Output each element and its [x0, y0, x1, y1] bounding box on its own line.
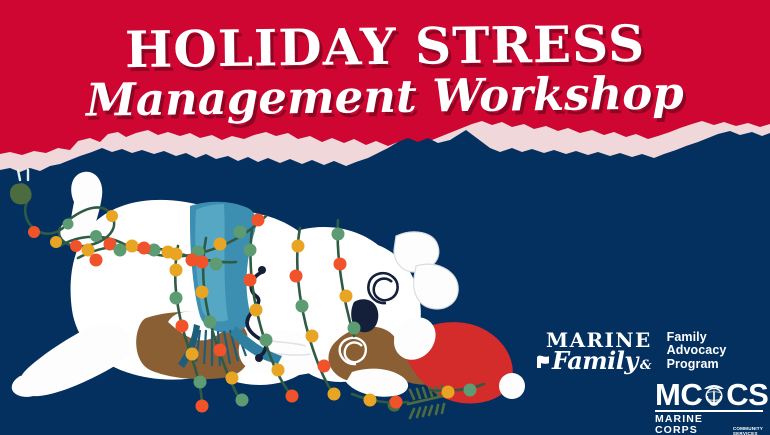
mccs-subtitle: MARINE CORPS COMMUNITY SERVICES — [655, 414, 763, 435]
title-block: HOLIDAY STRESS Management Workshop — [0, 0, 770, 140]
program-name: Family Advocacy Program — [667, 331, 727, 372]
page-title-line1: HOLIDAY STRESS — [125, 18, 646, 74]
marine-and-family-logo: MARINE Family & Family Advocacy Program — [534, 322, 704, 380]
bulldog-illustration — [0, 150, 540, 435]
family-wordmark: Family — [552, 349, 638, 373]
program-line-1: Family — [667, 331, 727, 345]
family-flag-icon — [534, 355, 550, 369]
ampersand: & — [640, 358, 652, 373]
program-line-2: Advocacy — [667, 344, 727, 358]
mccs-marine-corps-text: MARINE CORPS — [655, 414, 729, 435]
mccs-letters-right: CS — [726, 380, 768, 410]
eagle-globe-anchor-icon — [699, 380, 729, 410]
holiday-stress-workshop-poster: HOLIDAY STRESS Management Workshop — [0, 0, 770, 435]
marine-family-wordmark: MARINE Family & — [534, 330, 660, 373]
program-line-3: Program — [667, 358, 727, 372]
electrical-plug-icon — [10, 170, 32, 205]
mccs-logo: MC CS MARINE CORPS COMMUNITY S — [655, 380, 763, 428]
mccs-services-text: SERVICES — [733, 431, 763, 435]
page-title-line2: Management Workshop — [86, 70, 684, 122]
mccs-letters-left: MC — [655, 380, 702, 410]
mccs-wordmark: MC CS — [655, 380, 763, 410]
mccs-community-services-text: COMMUNITY SERVICES — [733, 426, 763, 435]
